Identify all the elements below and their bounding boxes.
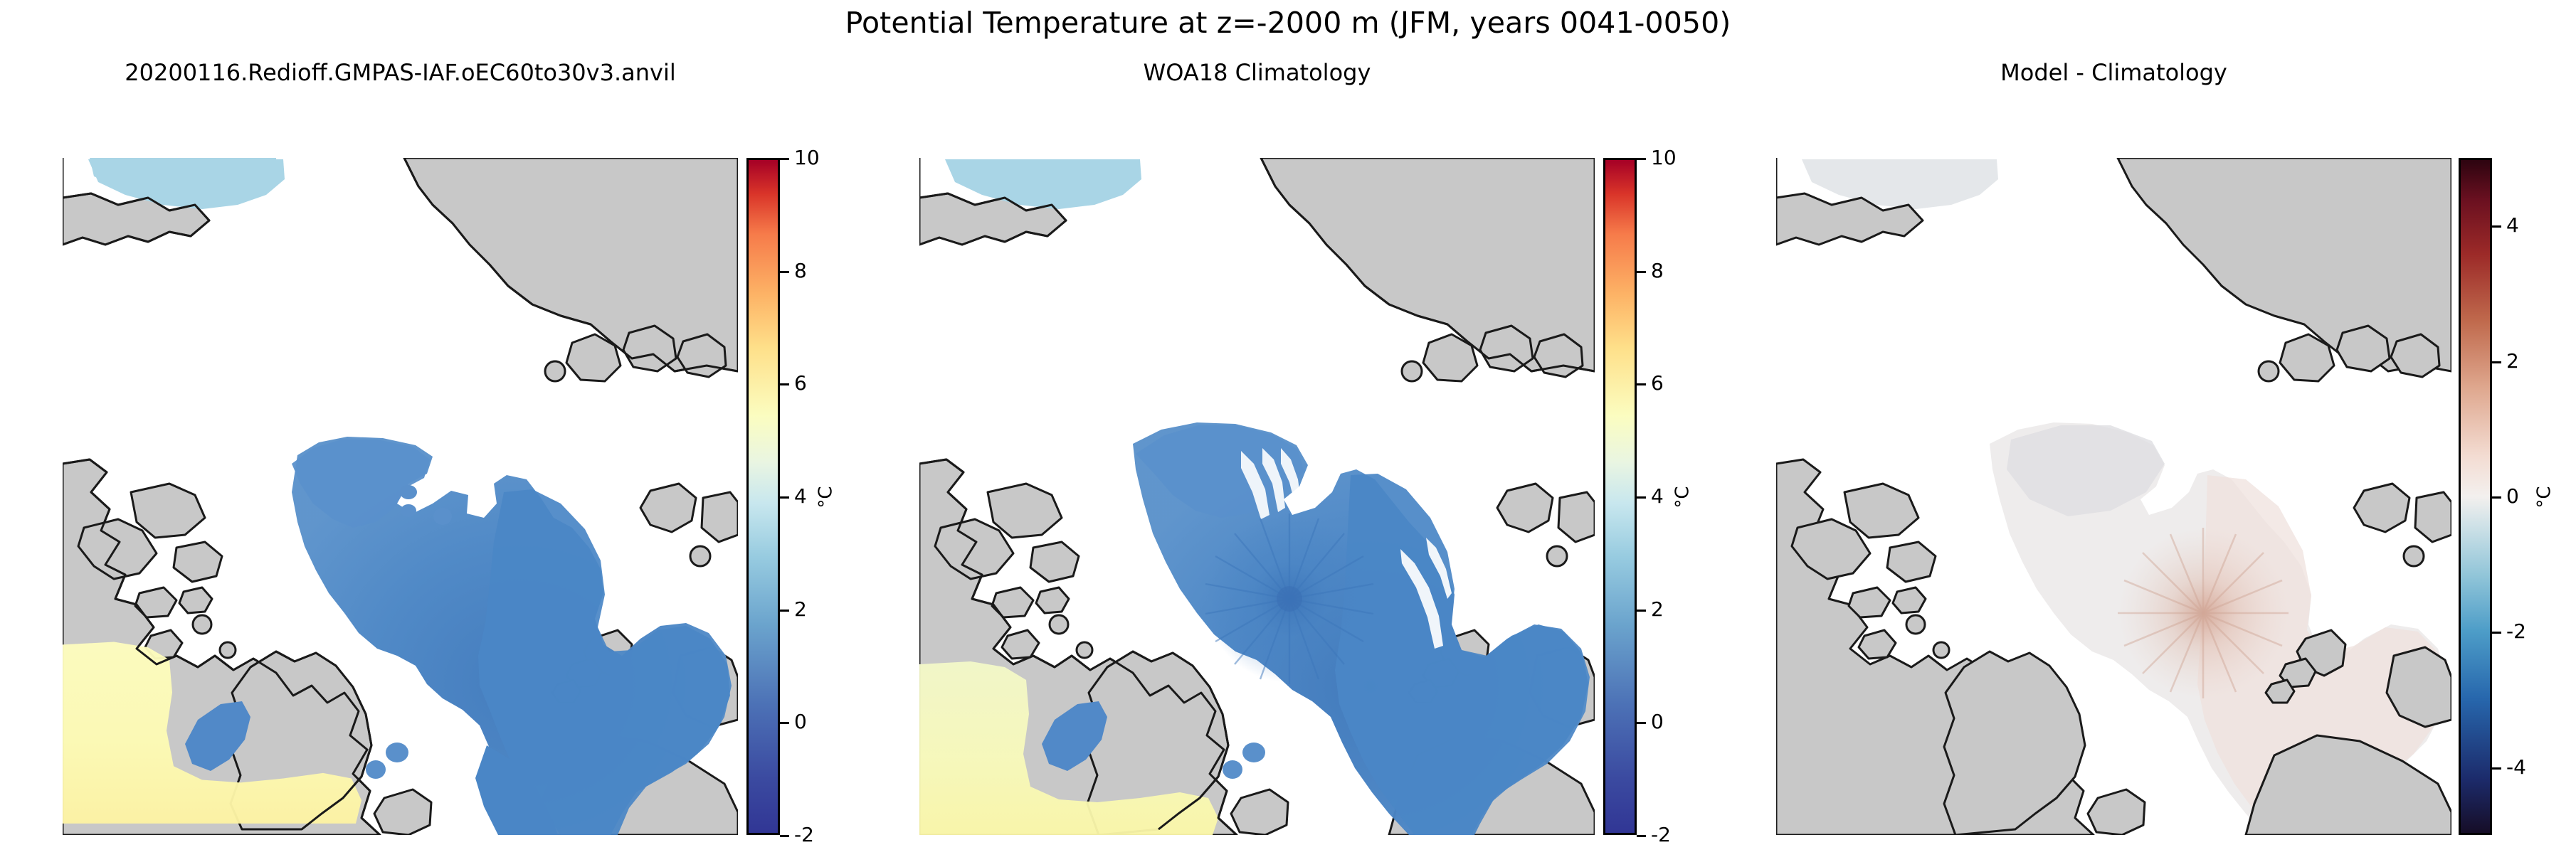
cbar-tick-label: 6 — [1651, 373, 1664, 393]
colorbar-difference[interactable] — [2459, 158, 2492, 835]
cbar-tick-label: 2 — [2506, 351, 2519, 371]
cbar-tick-mark — [780, 722, 789, 724]
map-panel-model — [63, 158, 738, 835]
cbar-tick-label: 2 — [794, 600, 807, 619]
cbar-tick-mark — [1637, 383, 1646, 385]
cbar-tick-mark — [1637, 158, 1646, 160]
cbar-tick-mark — [780, 271, 789, 273]
cbar-tick-label: 4 — [1651, 486, 1664, 506]
map-panel-difference — [1776, 158, 2451, 835]
cbar-tick-label: -2 — [2506, 622, 2526, 642]
cbar-tick-mark — [780, 835, 789, 837]
panel-title-difference: Model - Climatology — [1776, 59, 2451, 86]
colorbar-ticks-climatology: 10 8 6 4 2 0 -2 — [1637, 158, 1751, 835]
figure-suptitle: Potential Temperature at z=-2000 m (JFM,… — [0, 6, 2576, 40]
cbar-tick-mark — [1637, 610, 1646, 612]
cbar-tick-mark — [1637, 271, 1646, 273]
map-svg-difference — [1776, 158, 2451, 835]
colorbar-unit-label-climatology: °C — [1674, 486, 1692, 508]
cbar-tick-label: 8 — [1651, 261, 1664, 281]
colorbar-ticks-model: 10 8 6 4 2 0 -2 — [780, 158, 894, 835]
cbar-tick-label: -4 — [2506, 757, 2526, 777]
cbar-tick-label: 0 — [794, 712, 807, 732]
cbar-tick-mark — [780, 610, 789, 612]
cbar-tick-label: -2 — [1651, 825, 1671, 845]
cbar-tick-label: 8 — [794, 261, 807, 281]
map-svg-model — [63, 158, 738, 835]
cbar-tick-mark — [2492, 361, 2501, 363]
cbar-tick-mark — [780, 496, 789, 499]
cbar-tick-label: 2 — [1651, 600, 1664, 619]
cbar-tick-label: 10 — [1651, 148, 1677, 168]
cbar-tick-label: 10 — [794, 148, 820, 168]
pole-artifact — [1205, 514, 1373, 684]
cbar-tick-label: 0 — [2506, 486, 2519, 506]
colorbar-model[interactable] — [746, 158, 780, 835]
map-panel-climatology — [919, 158, 1595, 835]
cbar-tick-label: 6 — [794, 373, 807, 393]
figure-canvas: Potential Temperature at z=-2000 m (JFM,… — [0, 0, 2576, 862]
map-svg-climatology — [919, 158, 1595, 835]
cbar-tick-mark — [780, 158, 789, 160]
cbar-tick-mark — [780, 383, 789, 385]
cbar-tick-mark — [2492, 767, 2501, 770]
pole-bias-artifact — [2118, 528, 2289, 698]
panel-title-model: 20200116.Redioff.GMPAS-IAF.oEC60to30v3.a… — [63, 59, 738, 86]
cbar-tick-label: 0 — [1651, 712, 1664, 732]
cbar-tick-mark — [2492, 632, 2501, 634]
cbar-tick-mark — [2492, 225, 2501, 228]
cbar-tick-label: 4 — [794, 486, 807, 506]
cbar-tick-label: 4 — [2506, 215, 2519, 235]
cbar-tick-mark — [1637, 496, 1646, 499]
cbar-tick-mark — [1637, 835, 1646, 837]
cbar-tick-mark — [1637, 722, 1646, 724]
cbar-tick-label: -2 — [794, 825, 814, 845]
cbar-tick-mark — [2492, 496, 2501, 499]
panel-title-climatology: WOA18 Climatology — [919, 59, 1595, 86]
colorbar-unit-label-difference: °C — [2535, 486, 2554, 508]
colorbar-climatology[interactable] — [1603, 158, 1637, 835]
colorbar-unit-label-model: °C — [817, 486, 835, 508]
